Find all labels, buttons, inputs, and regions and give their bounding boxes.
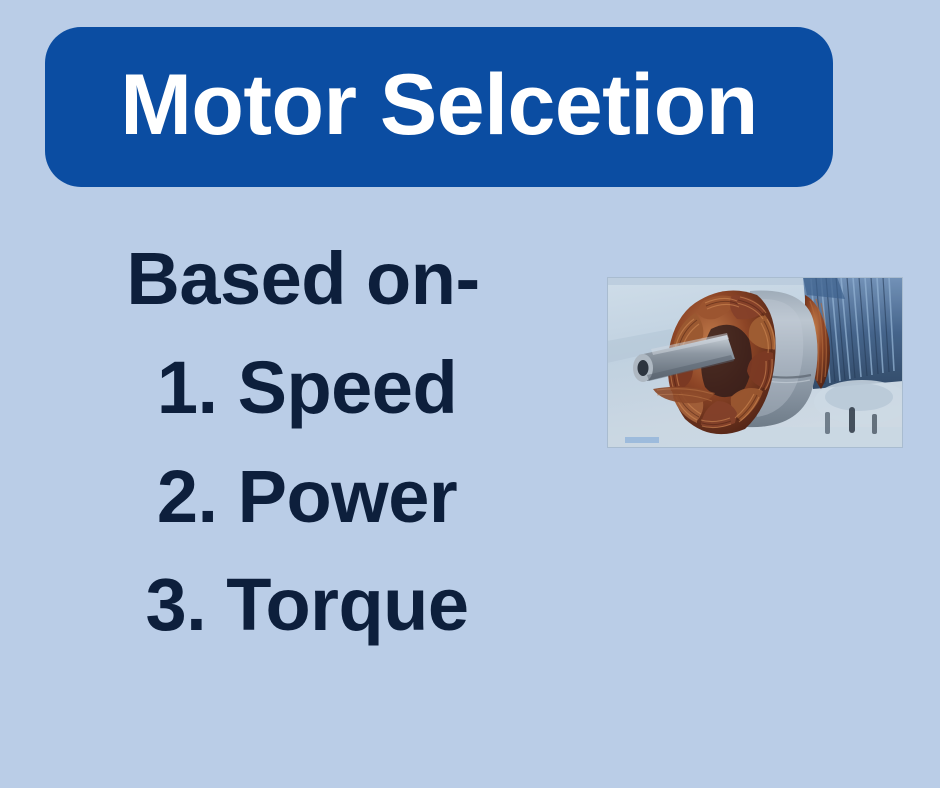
content-area: Based on- 1. Speed 2. Power 3. Torque <box>0 225 940 695</box>
motor-stator-illustration <box>607 277 903 448</box>
page-title: Motor Selcetion <box>120 62 758 152</box>
list-item-speed: 1. Speed <box>72 334 542 443</box>
motor-stator-image <box>607 277 903 448</box>
criteria-list: Based on- 1. Speed 2. Power 3. Torque <box>72 225 542 660</box>
title-banner: Motor Selcetion <box>45 27 833 187</box>
list-item-torque: 3. Torque <box>72 551 542 660</box>
list-intro-label: Based on- <box>72 225 542 334</box>
list-item-power: 2. Power <box>72 443 542 552</box>
slide-canvas: Motor Selcetion Based on- 1. Speed 2. Po… <box>0 0 940 788</box>
